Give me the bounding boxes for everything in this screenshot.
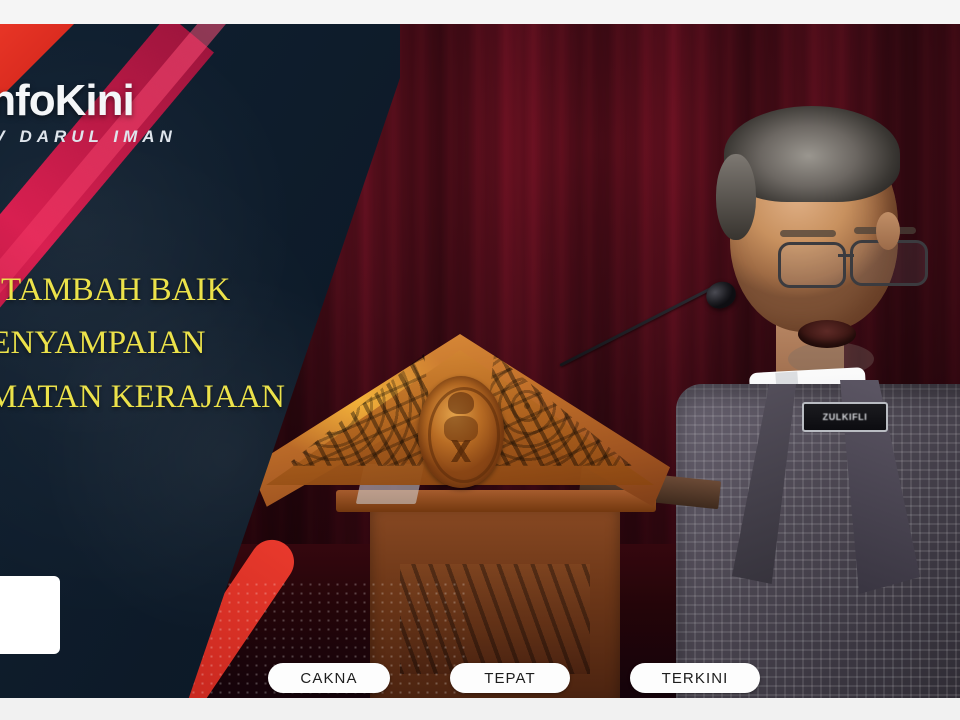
crest-motif-middle bbox=[444, 416, 478, 442]
speaker-mouth bbox=[798, 320, 856, 348]
station-badge bbox=[0, 576, 60, 654]
speaker-name-badge-label: ZULKIFLI bbox=[823, 412, 868, 422]
tagline-pill-terkini[interactable]: TERKINI bbox=[630, 663, 760, 693]
speaker-name-badge: ZULKIFLI bbox=[802, 402, 888, 432]
tagline-pill-row: CAKNA TEPAT TERKINI bbox=[0, 663, 960, 693]
channel-logo-subtitle: TV DARUL IMAN bbox=[0, 127, 238, 147]
letterbox-bottom bbox=[0, 698, 960, 720]
headline-line-2: PENYAMPAIAN bbox=[0, 317, 364, 370]
eyeglasses-lens-left bbox=[778, 242, 846, 288]
podium-fretwork-right bbox=[482, 354, 632, 484]
speaker-brow-left bbox=[780, 230, 836, 237]
headline-line-1: SI TAMBAH BAIK bbox=[0, 264, 364, 317]
letterbox-top bbox=[0, 0, 960, 24]
video-frame: ZULKIFLI bbox=[0, 0, 960, 720]
channel-logo: InfoKini TV DARUL IMAN bbox=[0, 79, 238, 147]
tagline-pill-cakna[interactable]: CAKNA bbox=[268, 663, 390, 693]
headline-line-3: DMATAN KERAJAAN bbox=[0, 371, 364, 424]
crest-motif-top bbox=[448, 392, 474, 414]
channel-logo-title: InfoKini bbox=[0, 79, 238, 123]
podium-crest-emblem bbox=[418, 376, 504, 488]
speaker-figure: ZULKIFLI bbox=[690, 84, 960, 698]
eyeglasses-bridge bbox=[838, 254, 854, 257]
tagline-pill-tepat[interactable]: TEPAT bbox=[450, 663, 570, 693]
speaker-hair-side bbox=[716, 154, 756, 240]
news-headline: SI TAMBAH BAIK PENYAMPAIAN DMATAN KERAJA… bbox=[0, 264, 364, 424]
crest-crossed-keris-icon bbox=[442, 440, 480, 462]
speaker-ear bbox=[876, 212, 900, 250]
broadcast-stage: ZULKIFLI bbox=[0, 24, 960, 698]
